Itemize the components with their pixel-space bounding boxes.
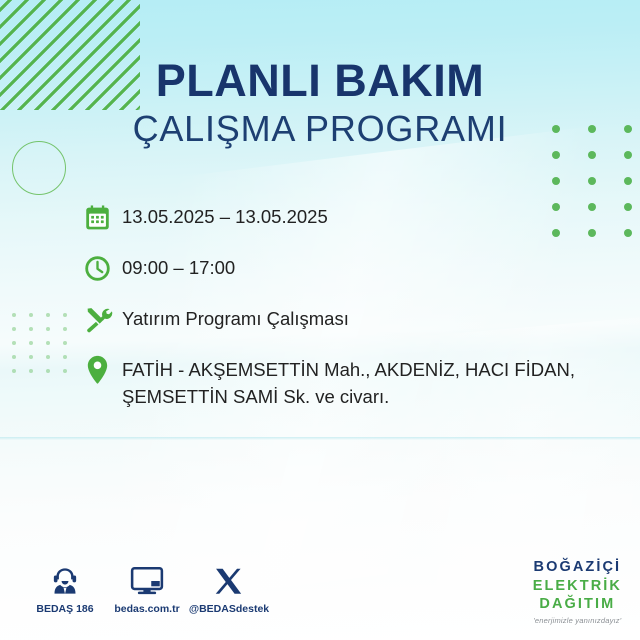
background-horizontal-band (0, 437, 640, 440)
page-title: PLANLI BAKIM ÇALIŞMA PROGRAMI (0, 58, 640, 147)
work-type-value: Yatırım Programı Çalışması (122, 302, 349, 332)
brand-line-3: DAĞITIM (533, 597, 622, 612)
footer: BEDAŞ 186 bedas.com.tr (0, 554, 640, 640)
info-list: 13.05.2025 – 13.05.2025 09:00 – 17:00 (84, 200, 614, 428)
time-range-value: 09:00 – 17:00 (122, 251, 235, 281)
headset-support-icon (24, 562, 106, 596)
date-range-value: 13.05.2025 – 13.05.2025 (122, 200, 328, 230)
brand-logo: BOĞAZİÇİ ELEKTRİK DAĞITIM 'enerjimizle y… (533, 560, 622, 624)
address-value: FATİH - AKŞEMSETTİN Mah., AKDENİZ, HACI … (122, 353, 575, 411)
info-row-date: 13.05.2025 – 13.05.2025 (84, 200, 614, 234)
clock-icon (84, 251, 122, 285)
contact-phone[interactable]: BEDAŞ 186 (24, 562, 106, 615)
address-line-1: FATİH - AKŞEMSETTİN Mah., AKDENİZ, HACI … (122, 359, 575, 380)
contact-x-label: @BEDASdestek (188, 603, 270, 615)
poster-canvas: PLANLI BAKIM ÇALIŞMA PROGRAMI (0, 0, 640, 640)
title-line-1: PLANLI BAKIM (0, 58, 640, 103)
tools-icon (84, 302, 122, 336)
info-row-work-type: Yatırım Programı Çalışması (84, 302, 614, 336)
brand-tagline: 'enerjimizle yanınızdayız' (533, 617, 622, 625)
contact-website[interactable]: bedas.com.tr (106, 562, 188, 615)
title-line-2: ÇALIŞMA PROGRAMI (0, 111, 640, 147)
location-pin-icon (84, 353, 122, 387)
circle-outline-decoration (12, 141, 66, 195)
dot-grid-left-decoration (12, 313, 80, 383)
contact-list: BEDAŞ 186 bedas.com.tr (24, 562, 270, 615)
calendar-icon (84, 200, 122, 234)
contact-x-account[interactable]: @BEDASdestek (188, 562, 270, 615)
info-row-time: 09:00 – 17:00 (84, 251, 614, 285)
contact-website-label: bedas.com.tr (106, 603, 188, 615)
x-twitter-icon (188, 562, 270, 596)
brand-line-2: ELEKTRİK (533, 579, 622, 594)
contact-phone-label: BEDAŞ 186 (24, 603, 106, 615)
address-line-2: ŞEMSETTİN SAMİ Sk. ve civarı. (122, 386, 389, 407)
monitor-website-icon (106, 562, 188, 596)
info-row-address: FATİH - AKŞEMSETTİN Mah., AKDENİZ, HACI … (84, 353, 614, 411)
brand-line-1: BOĞAZİÇİ (533, 560, 622, 575)
